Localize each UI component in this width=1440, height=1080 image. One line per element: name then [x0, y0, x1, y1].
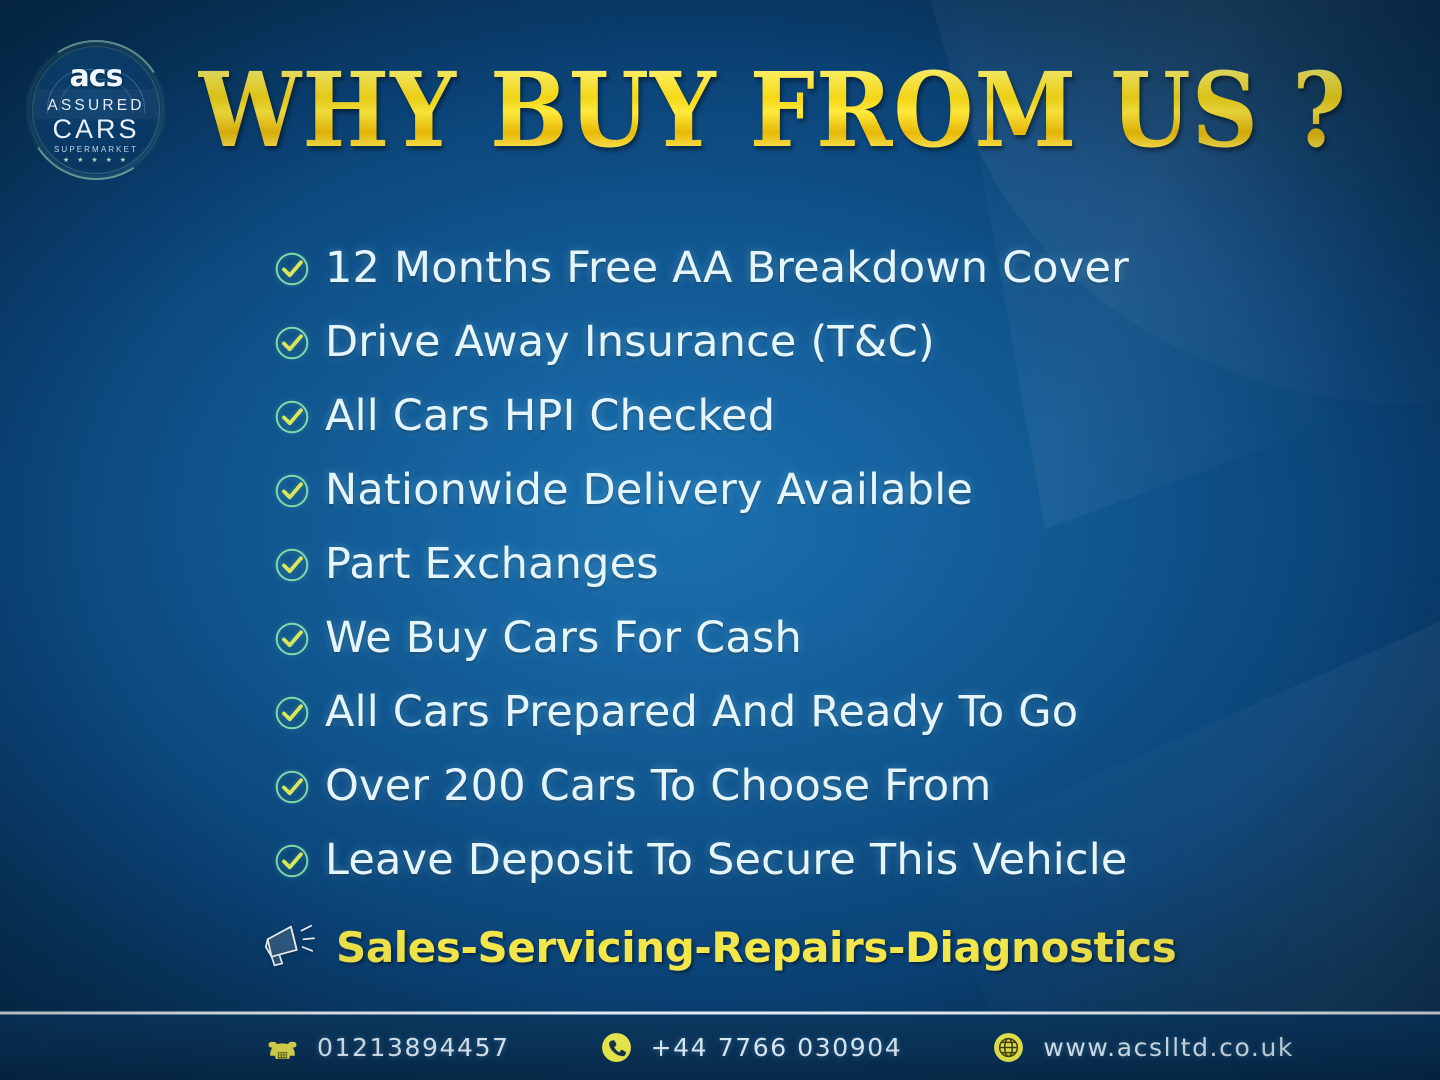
- list-item-label: 12 Months Free AA Breakdown Cover: [325, 247, 1129, 290]
- poster-header: acs ASSURED CARS SUPERMARKET ★ ★ ★ ★ ★ W…: [22, 30, 1380, 190]
- list-item: Nationwide Delivery Available: [274, 458, 1380, 523]
- contact-landline-number: 01213894457: [317, 1033, 510, 1062]
- contact-mobile-number: +44 7766 030904: [651, 1033, 903, 1062]
- logo-stars: ★ ★ ★ ★ ★: [63, 157, 129, 164]
- list-item: All Cars Prepared And Ready To Go: [274, 680, 1380, 745]
- contact-mobile[interactable]: +44 7766 030904: [600, 1031, 903, 1064]
- check-circle-icon: [274, 473, 310, 509]
- page-title: WHY BUY FROM US ?: [198, 58, 1347, 161]
- check-circle-icon: [274, 769, 310, 805]
- list-item-label: All Cars Prepared And Ready To Go: [325, 691, 1078, 734]
- contact-landline[interactable]: 01213894457: [266, 1031, 510, 1064]
- list-item: We Buy Cars For Cash: [274, 606, 1380, 671]
- list-item-label: All Cars HPI Checked: [325, 395, 775, 438]
- check-circle-icon: [274, 325, 310, 361]
- logo-wordmark: acs ASSURED CARS SUPERMARKET ★ ★ ★ ★ ★: [22, 36, 170, 184]
- contact-footer: 01213894457 +44 7766 030904 www.acsllt: [0, 1015, 1440, 1080]
- logo-cars-text: CARS: [52, 116, 139, 143]
- features-list: 12 Months Free AA Breakdown Cover Drive …: [274, 236, 1380, 893]
- list-item-label: Leave Deposit To Secure This Vehicle: [325, 839, 1128, 882]
- check-circle-icon: [274, 251, 310, 287]
- list-item: 12 Months Free AA Breakdown Cover: [274, 236, 1380, 301]
- check-circle-icon: [274, 843, 310, 879]
- list-item: Part Exchanges: [274, 532, 1380, 597]
- list-item-label: Over 200 Cars To Choose From: [325, 765, 991, 808]
- services-tagline: Sales-Servicing-Repairs-Diagnostics: [258, 918, 1176, 976]
- mobile-phone-icon: [600, 1031, 633, 1064]
- telephone-icon: [266, 1031, 299, 1064]
- list-item: Leave Deposit To Secure This Vehicle: [274, 828, 1380, 893]
- check-circle-icon: [274, 695, 310, 731]
- acs-assured-cars-logo: acs ASSURED CARS SUPERMARKET ★ ★ ★ ★ ★: [22, 36, 170, 184]
- services-tagline-text: Sales-Servicing-Repairs-Diagnostics: [336, 923, 1176, 972]
- megaphone-icon: [258, 918, 320, 976]
- logo-assured-text: ASSURED: [47, 98, 144, 114]
- check-circle-icon: [274, 621, 310, 657]
- list-item: All Cars HPI Checked: [274, 384, 1380, 449]
- contact-website-url: www.acslltd.co.uk: [1043, 1033, 1294, 1062]
- check-circle-icon: [274, 399, 310, 435]
- list-item-label: We Buy Cars For Cash: [325, 617, 802, 660]
- logo-supermarket-text: SUPERMARKET: [54, 146, 138, 154]
- check-circle-icon: [274, 547, 310, 583]
- list-item: Drive Away Insurance (T&C): [274, 310, 1380, 375]
- logo-acs-text: acs: [70, 62, 123, 92]
- contact-website[interactable]: www.acslltd.co.uk: [992, 1031, 1294, 1064]
- poster-canvas: acs ASSURED CARS SUPERMARKET ★ ★ ★ ★ ★ W…: [0, 0, 1440, 1080]
- list-item-label: Drive Away Insurance (T&C): [325, 321, 935, 364]
- list-item-label: Nationwide Delivery Available: [325, 469, 973, 512]
- list-item: Over 200 Cars To Choose From: [274, 754, 1380, 819]
- list-item-label: Part Exchanges: [325, 543, 659, 586]
- globe-icon: [992, 1031, 1025, 1064]
